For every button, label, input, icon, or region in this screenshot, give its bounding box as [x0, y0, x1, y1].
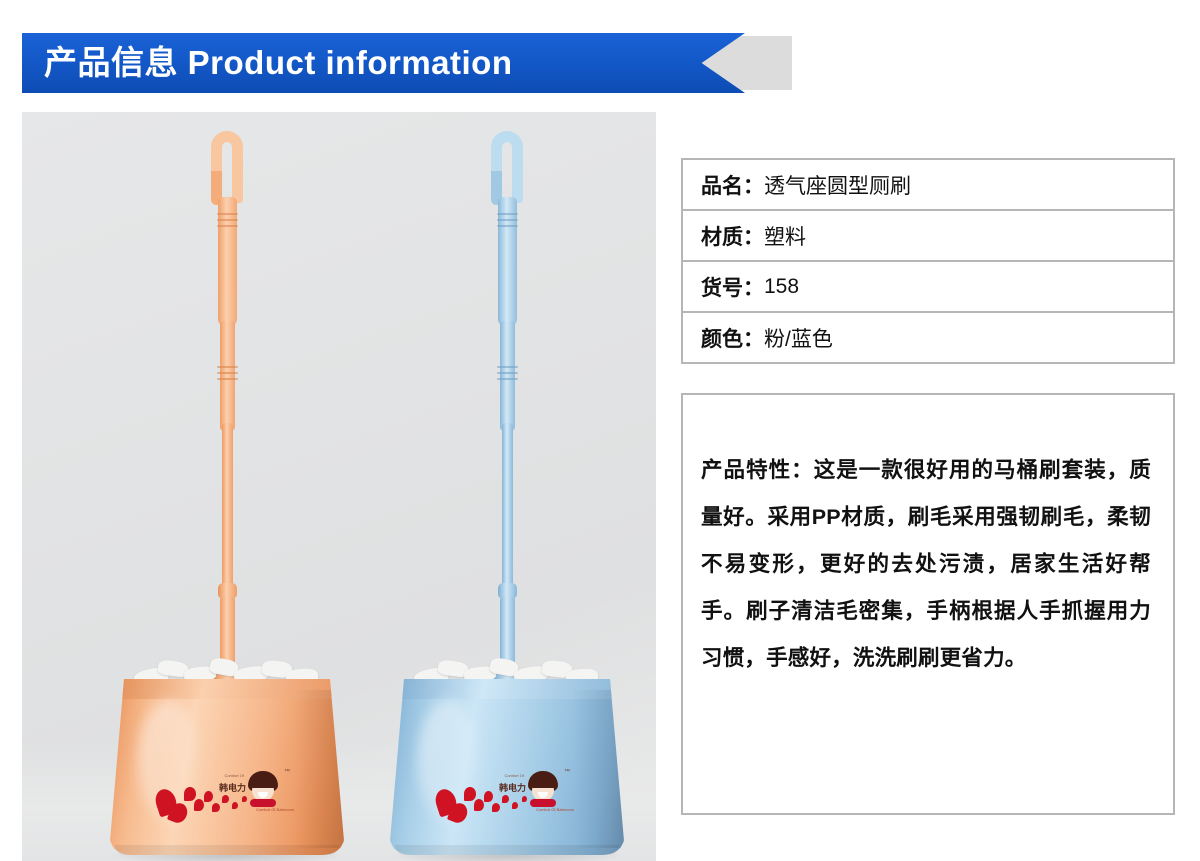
- spec-label-item-no: 货号：: [701, 272, 764, 302]
- decal-petal: [464, 787, 476, 801]
- decal-brand-en: Comfort Of: [224, 773, 244, 778]
- product-item-blue: Comfort Of 韩电力 Comfort Of Bathroom ™: [382, 131, 632, 821]
- spec-label-product-name: 品名：: [701, 170, 764, 200]
- decal-trademark: ™: [284, 769, 290, 775]
- brand-decal: Comfort Of 韩电力 Comfort Of Bathroom ™: [156, 769, 296, 825]
- grip-rings-mid: [497, 366, 518, 388]
- spec-label-color: 颜色：: [701, 323, 764, 353]
- decal-bangs: [251, 779, 275, 788]
- page-title: 产品信息 Product information: [22, 33, 513, 93]
- base-shadow: [293, 690, 344, 848]
- table-row: 颜色： 粉/蓝色: [683, 313, 1173, 364]
- table-row: 品名： 透气座圆型厕刷: [683, 160, 1173, 211]
- spec-label-material: 材质：: [701, 221, 764, 251]
- product-item-peach: Comfort Of 韩电力 Comfort Of Bathroom ™: [102, 131, 352, 821]
- brand-decal: Comfort Of 韩电力 Comfort Of Bathroom ™: [436, 769, 576, 825]
- decal-brand-sub: Comfort Of Bathroom: [536, 807, 574, 812]
- handle-shaft: [222, 423, 233, 608]
- decal-petal: [522, 796, 527, 802]
- section-header-banner: 产品信息 Product information: [22, 33, 770, 93]
- decal-trademark: ™: [564, 769, 570, 775]
- decal-petal: [204, 791, 213, 802]
- decal-girl-icon: [248, 771, 278, 803]
- spec-table: 品名： 透气座圆型厕刷 材质： 塑料 货号： 158 颜色： 粉/蓝色: [681, 158, 1175, 364]
- decal-petal: [242, 796, 247, 802]
- decal-girl-icon: [528, 771, 558, 803]
- base-foot: [395, 845, 620, 855]
- spec-value-material: 塑料: [764, 221, 806, 251]
- product-description: 产品特性：这是一款很好用的马桶刷套装，质量好。采用PP材质，刷毛采用强韧刷毛，柔…: [701, 447, 1151, 682]
- decal-petal: [502, 795, 509, 803]
- grip-rings-top: [217, 213, 238, 235]
- decal-brand-sub: Comfort Of Bathroom: [256, 807, 294, 812]
- brush-handle-blue: [484, 131, 530, 676]
- description-box: 产品特性：这是一款很好用的马桶刷套装，质量好。采用PP材质，刷毛采用强韧刷毛，柔…: [681, 393, 1175, 815]
- decal-petal: [222, 795, 229, 803]
- brush-base-cup: Comfort Of 韩电力 Comfort Of Bathroom ™: [390, 679, 624, 855]
- decal-petal: [184, 787, 196, 801]
- decal-collar: [250, 799, 276, 807]
- grip-rings-top: [497, 213, 518, 235]
- spec-value-item-no: 158: [764, 275, 799, 299]
- decal-petal: [484, 791, 493, 802]
- brush-handle-peach: [204, 131, 250, 676]
- handle-shaft: [502, 423, 513, 608]
- table-row: 货号： 158: [683, 262, 1173, 313]
- spec-value-product-name: 透气座圆型厕刷: [764, 170, 911, 200]
- brush-base-cup: Comfort Of 韩电力 Comfort Of Bathroom ™: [110, 679, 344, 855]
- decal-collar: [530, 799, 556, 807]
- product-photo: Comfort Of 韩电力 Comfort Of Bathroom ™: [22, 112, 656, 861]
- decal-brand-cn: 韩电力: [219, 781, 246, 794]
- decal-petal: [512, 802, 518, 809]
- decal-petal: [232, 802, 238, 809]
- base-shadow: [573, 690, 624, 848]
- decal-petal: [474, 799, 484, 811]
- ribbon-blue: 产品信息 Product information: [22, 33, 745, 93]
- decal-brand-cn: 韩电力: [499, 781, 526, 794]
- decal-bangs: [531, 779, 555, 788]
- decal-petal: [492, 803, 500, 812]
- spec-value-color: 粉/蓝色: [764, 323, 833, 353]
- decal-petal: [212, 803, 220, 812]
- decal-petal: [194, 799, 204, 811]
- grip-rings-mid: [217, 366, 238, 388]
- table-row: 材质： 塑料: [683, 211, 1173, 262]
- decal-brand-en: Comfort Of: [504, 773, 524, 778]
- base-foot: [115, 845, 340, 855]
